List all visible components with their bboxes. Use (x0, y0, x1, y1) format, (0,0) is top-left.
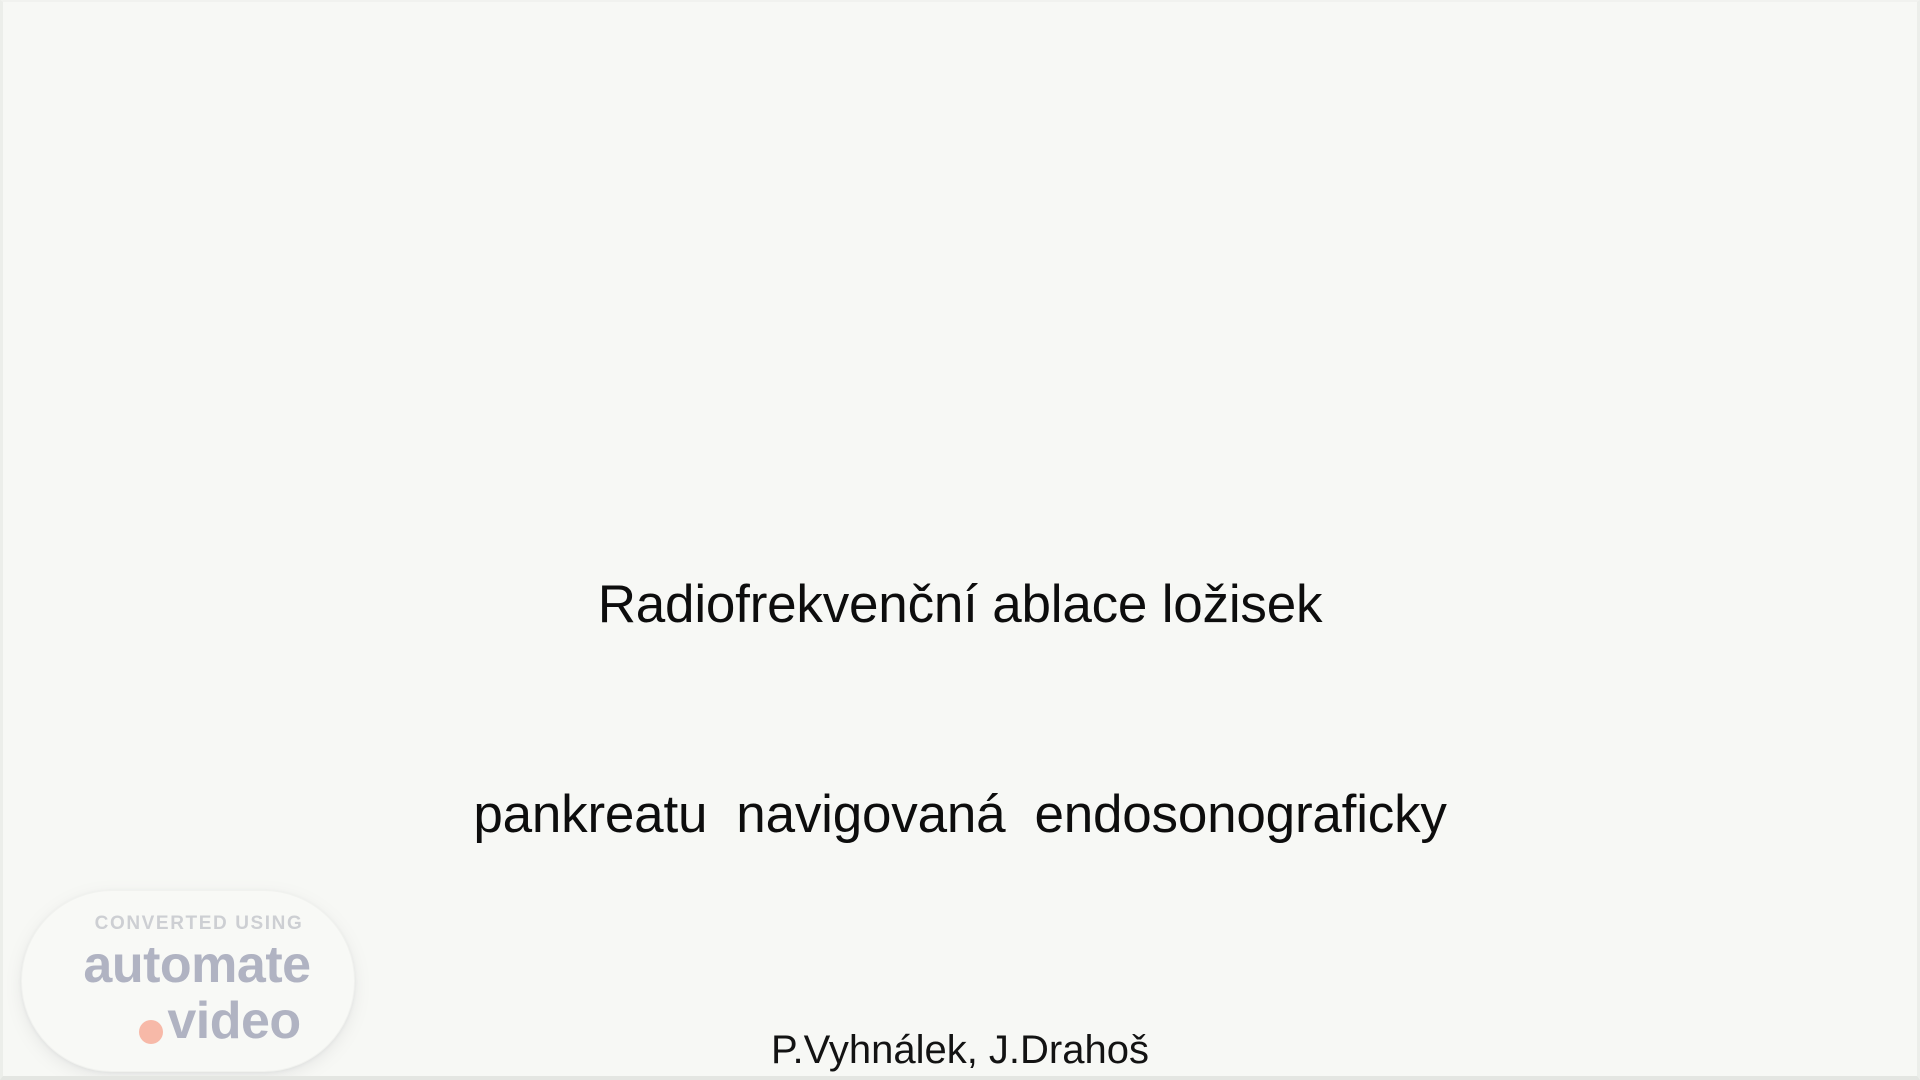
presentation-slide: Radiofrekvenční ablace ložisek pankreatu… (0, 0, 1920, 1080)
watermark-tld: video (167, 993, 300, 1049)
watermark-brand: automate (65, 937, 310, 993)
slide-title-line-1: Radiofrekvenční ablace ložisek (3, 570, 1917, 640)
slide-title-line-2: pankreatu navigovaná endosonograficky (3, 780, 1917, 850)
watermark-kicker: CONVERTED USING (73, 913, 304, 935)
watermark-tld-row: video (75, 993, 300, 1049)
dot-icon (139, 1020, 163, 1044)
automate-video-watermark: CONVERTED USING automate video (21, 890, 355, 1072)
